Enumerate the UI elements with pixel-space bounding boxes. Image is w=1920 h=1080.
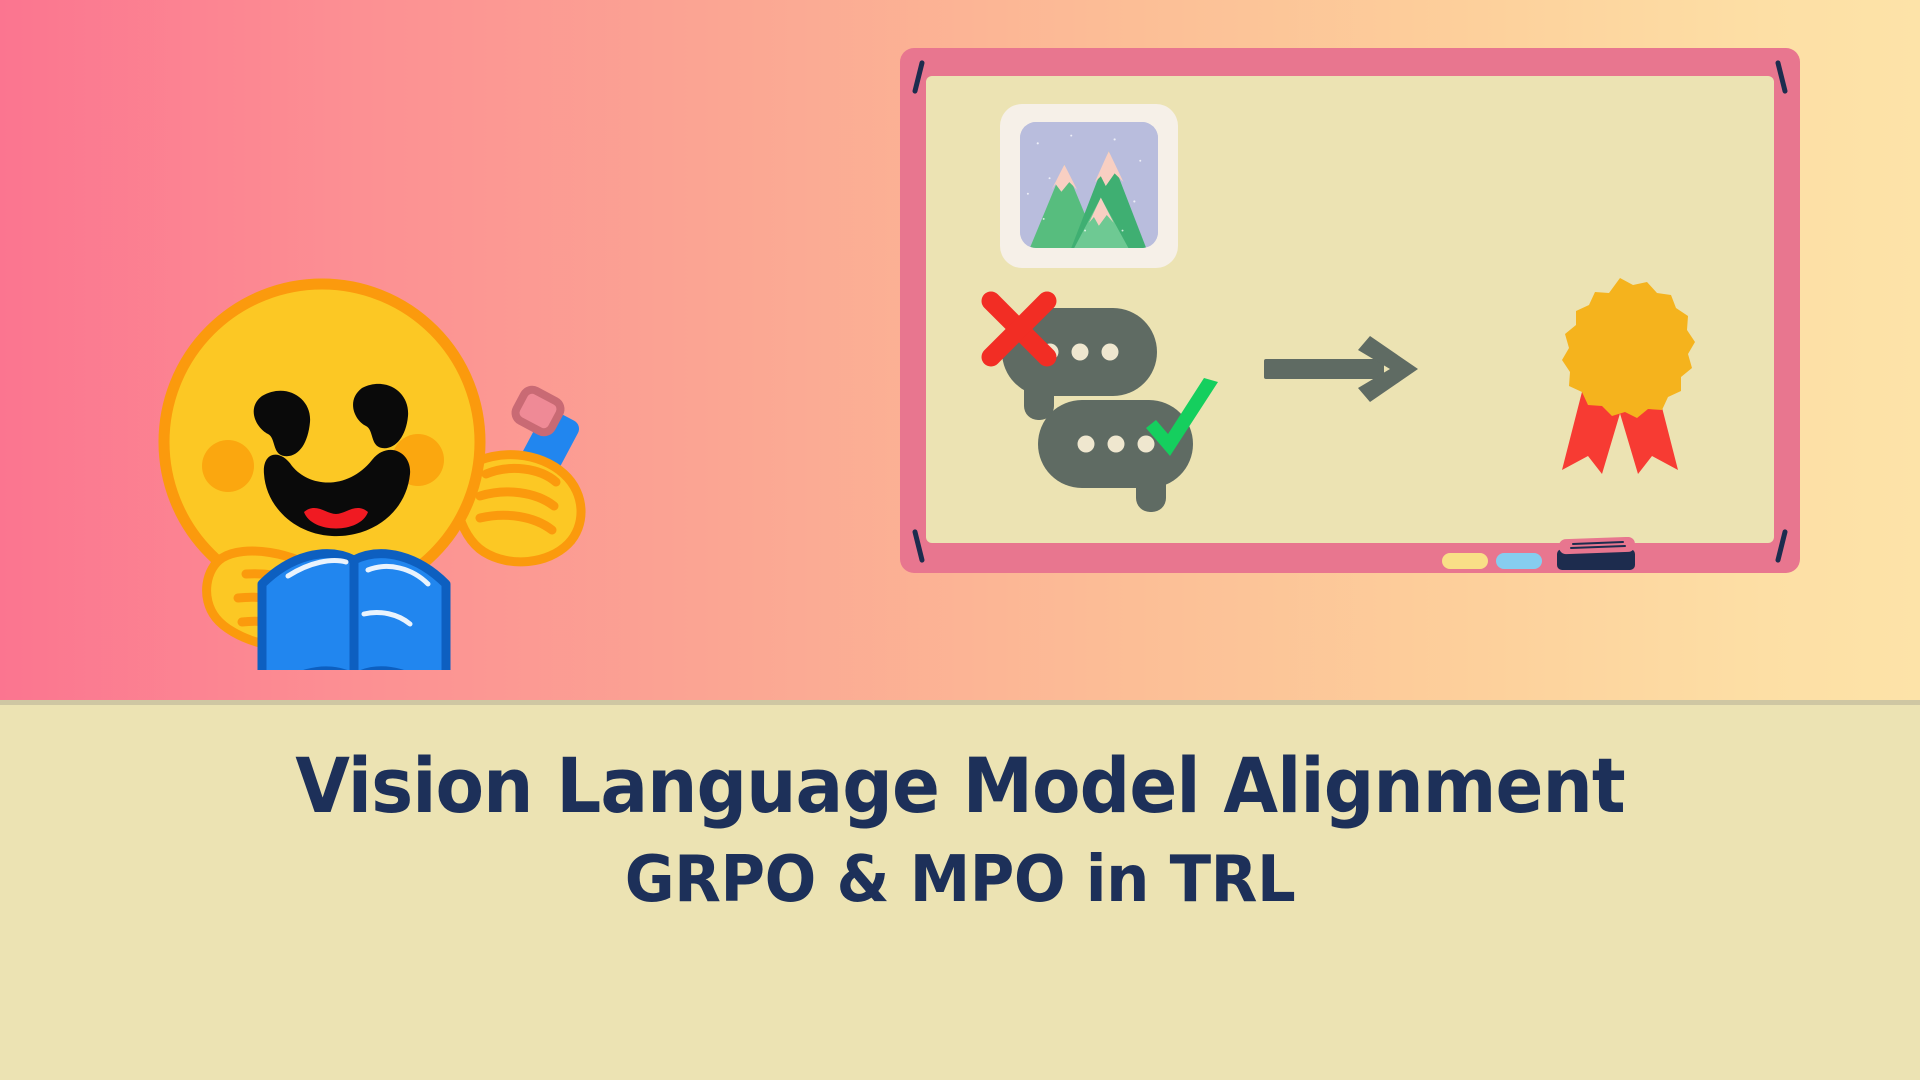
yellow-marker-icon (1442, 553, 1488, 569)
check-mark-icon (1140, 376, 1224, 466)
board-eraser-icon (1555, 537, 1637, 571)
right-arrow-icon (1260, 326, 1430, 412)
photo-inner (1020, 122, 1158, 248)
x-cross-icon (976, 286, 1062, 372)
blue-marker-icon (1496, 553, 1542, 569)
page-subtitle: GRPO & MPO in TRL (48, 845, 1872, 915)
title-block: Vision Language Model Alignment GRPO & M… (0, 745, 1920, 915)
dot (1101, 344, 1118, 361)
award-medal-icon (1540, 274, 1700, 474)
dot (1077, 436, 1094, 453)
marker-tray (1430, 535, 1650, 571)
smiling-face-reading-book-icon (150, 270, 630, 670)
response-pair (990, 308, 1220, 498)
whiteboard (900, 48, 1800, 573)
page-title: Vision Language Model Alignment (67, 745, 1853, 827)
open-book-icon (262, 554, 446, 670)
mountain-photo-icon (1000, 104, 1178, 268)
dot (1071, 344, 1088, 361)
dot (1107, 436, 1124, 453)
slide-canvas: Vision Language Model Alignment GRPO & M… (0, 0, 1920, 1080)
